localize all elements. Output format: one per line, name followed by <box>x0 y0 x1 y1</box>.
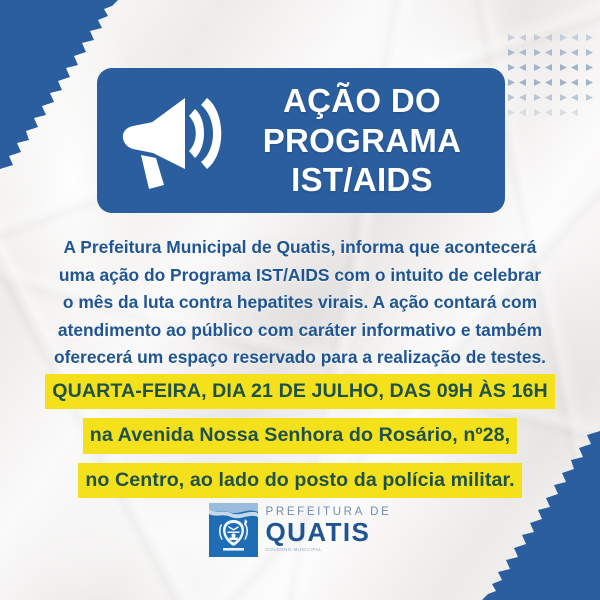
highlight-row-3: no Centro, ao lado do posto da polícia m… <box>0 463 600 498</box>
body-line-1: A Prefeitura Municipal de Quatis, inform… <box>26 234 574 262</box>
body-line-2: uma ação do Programa IST/AIDS com o intu… <box>26 262 574 290</box>
highlight-neighborhood: no Centro, ao lado do posto da polícia m… <box>78 463 521 498</box>
highlight-row-2: na Avenida Nossa Senhora do Rosário, nº2… <box>0 418 600 453</box>
headline-banner: AÇÃO DO PROGRAMA IST/AIDS <box>97 68 505 213</box>
triangle-pattern-icon <box>504 28 596 120</box>
body-line-4: atendimento ao público com caráter infor… <box>26 317 574 345</box>
footer-logo: PREFEITURA DE QUATIS GOVERNO MUNICIPAL <box>0 503 600 557</box>
body-line-3: o mês da luta contra hepatites virais. A… <box>26 289 574 317</box>
event-details-highlights: QUARTA-FEIRA, DIA 21 DE JULHO, DAS 09H À… <box>0 374 600 507</box>
logo-name: QUATIS <box>266 519 392 547</box>
body-line-5: oferecerá um espaço reservado para a rea… <box>26 344 574 372</box>
megaphone-icon <box>111 85 231 197</box>
highlight-row-1: QUARTA-FEIRA, DIA 21 DE JULHO, DAS 09H À… <box>0 374 600 409</box>
highlight-datetime: QUARTA-FEIRA, DIA 21 DE JULHO, DAS 09H À… <box>45 374 555 409</box>
logo-prefix: PREFEITURA DE <box>266 506 392 518</box>
logo-tagline: GOVERNO MUNICIPAL <box>266 548 392 552</box>
banner-title-line-3: IST/AIDS <box>235 160 489 200</box>
banner-title-line-2: PROGRAMA <box>235 121 489 161</box>
banner-title-line-1: AÇÃO DO <box>235 81 489 121</box>
highlight-address: na Avenida Nossa Senhora do Rosário, nº2… <box>83 418 517 453</box>
banner-title: AÇÃO DO PROGRAMA IST/AIDS <box>235 81 489 201</box>
quatis-coat-of-arms-icon <box>209 503 258 557</box>
poster: AÇÃO DO PROGRAMA IST/AIDS A Prefeitura M… <box>0 0 600 600</box>
body-paragraph: A Prefeitura Municipal de Quatis, inform… <box>26 234 574 372</box>
